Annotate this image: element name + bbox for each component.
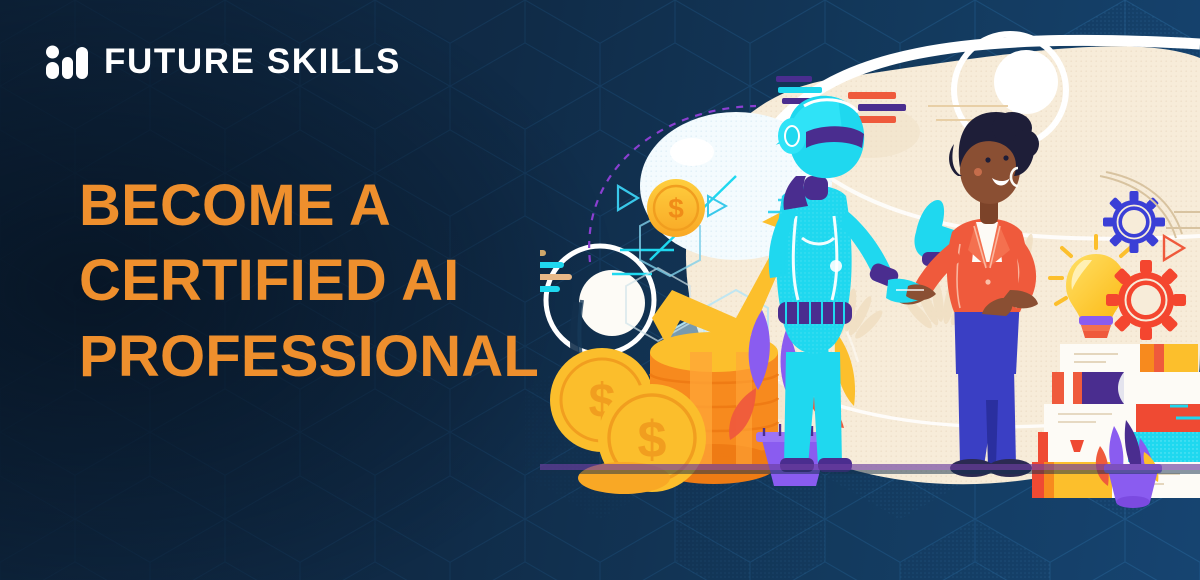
brand-logo[interactable]: FUTURE SKILLS: [46, 44, 401, 79]
gear-icon-blue: [1103, 191, 1165, 253]
headline-line-3: PROFESSIONAL: [79, 319, 539, 394]
svg-text:$: $: [668, 193, 684, 224]
play-triangle-icon: [618, 186, 638, 210]
banner-root: $ $: [0, 0, 1200, 580]
illustration-svg: $ $: [540, 0, 1200, 580]
dollar-coin-icon: $: [647, 179, 705, 237]
white-ring-circle: [546, 246, 654, 354]
brand-name: FUTURE SKILLS: [104, 44, 401, 79]
headline-line-2: CERTIFIED AI: [79, 243, 539, 318]
headline-line-1: BECOME A: [79, 168, 539, 243]
gear-icon-red: [1106, 260, 1186, 340]
svg-text:$: $: [638, 411, 667, 469]
bar-chart-logo-icon: [46, 45, 90, 79]
page-title: BECOME A CERTIFIED AI PROFESSIONAL: [79, 168, 539, 394]
ground-line: [540, 464, 1200, 474]
illustration-ai-handshake: $ $: [540, 0, 1200, 580]
